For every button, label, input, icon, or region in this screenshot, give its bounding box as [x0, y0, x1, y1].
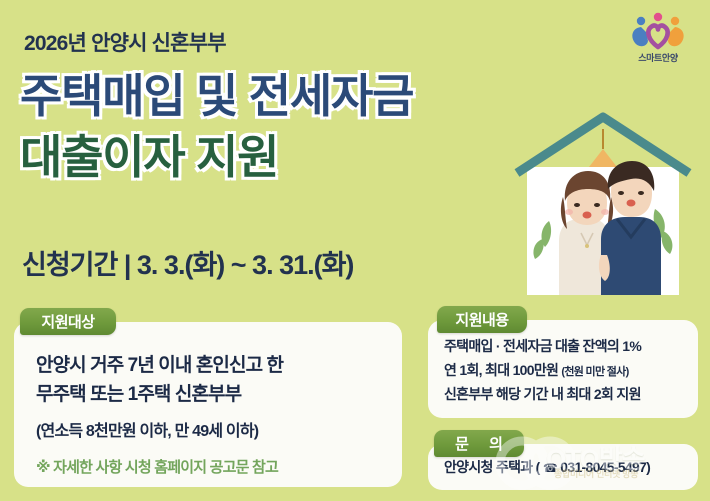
smart-anyang-logo-icon — [622, 10, 694, 50]
badge-support-content: 지원내용 — [437, 306, 527, 333]
content-line-2: 연 1회, 최대 100만원 (천원 미만 절사) — [444, 358, 690, 382]
telephone-icon: ☎ — [543, 461, 557, 475]
poster-title: 주택매입 및 전세자금 대출이자 지원 — [20, 66, 540, 187]
logo-label: 스마트안양 — [622, 51, 694, 64]
card-support-content: 주택매입 · 전세자금 대출 잔액의 1% 연 1회, 최대 100만원 (천원… — [428, 320, 698, 418]
badge-support-target: 지원대상 — [20, 308, 116, 335]
content-line-2-paren: (천원 미만 절사) — [561, 366, 628, 378]
application-period: 신청기간 | 3. 3.(화) ~ 3. 31.(화) — [22, 243, 353, 282]
content-line-3: 신혼부부 해당 기간 내 최대 2회 지원 — [444, 382, 690, 406]
poster-eyebrow: 2026년 안양시 신혼부부 — [24, 27, 226, 57]
inquiry-closing: ) — [646, 459, 650, 475]
poster-root: 2026년 안양시 신혼부부 스마트안양 주택매입 및 전세자금 대출이자 지원… — [0, 0, 710, 501]
content-line-2-main: 연 1회, 최대 100만원 — [444, 362, 558, 378]
title-line-2: 대출이자 지원 — [20, 127, 540, 188]
card-support-target: 안양시 거주 7년 이내 혼인신고 한 무주택 또는 1주택 신혼부부 (연소득… — [14, 322, 402, 487]
inquiry-line: 안양시청 주택과 ( ☎ 031-8045-5497) — [444, 457, 650, 477]
title-line-1: 주택매입 및 전세자금 — [20, 66, 540, 127]
inquiry-office: 안양시청 주택과 ( — [444, 459, 540, 475]
badge-inquiry: 문 의 — [434, 430, 524, 457]
house-with-couple-illustration — [505, 105, 700, 303]
target-line-2: 무주택 또는 1주택 신혼부부 — [36, 381, 388, 410]
target-note: ※ 자세한 사항 시청 홈페이지 공고문 참고 — [36, 456, 388, 477]
inquiry-phone: 031-8045-5497 — [560, 459, 646, 475]
target-line-1: 안양시 거주 7년 이내 혼인신고 한 — [36, 352, 388, 381]
smart-anyang-logo: 스마트안양 — [622, 10, 694, 68]
content-line-1: 주택매입 · 전세자금 대출 잔액의 1% — [444, 334, 690, 358]
target-subline: (연소득 8천만원 이하, 만 49세 이하) — [36, 417, 388, 441]
